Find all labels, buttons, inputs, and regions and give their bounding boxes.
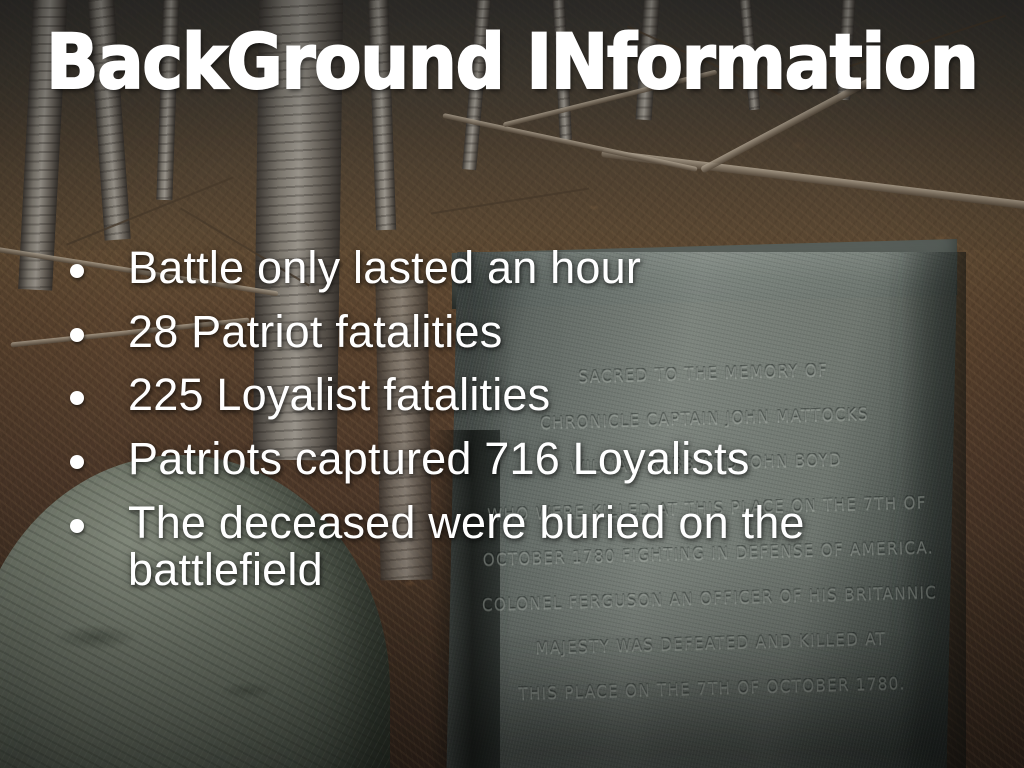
bullet-item: Patriots captured 716 Loyalists (58, 435, 958, 483)
bullet-item: 225 Loyalist fatalities (58, 371, 958, 419)
bullet-dot-icon (70, 328, 84, 342)
bullet-dot-icon (70, 391, 84, 405)
bullet-text: The deceased were buried on the battlefi… (128, 497, 805, 596)
bullet-text: 225 Loyalist fatalities (128, 369, 550, 420)
bullet-item: The deceased were buried on the battlefi… (58, 499, 958, 594)
bullet-text: Battle only lasted an hour (128, 242, 641, 293)
bullet-item: Battle only lasted an hour (58, 244, 958, 292)
slide-title: BackGround INformation (0, 24, 1024, 100)
bullet-item: 28 Patriot fatalities (58, 308, 958, 356)
presentation-slide: SACRED TO THE MEMORY OF CHRONICLE CAPTAI… (0, 0, 1024, 768)
bullet-text: Patriots captured 716 Loyalists (128, 433, 750, 484)
bullet-list: Battle only lasted an hour 28 Patriot fa… (58, 244, 958, 610)
bullet-dot-icon (70, 455, 84, 469)
bullet-dot-icon (70, 519, 84, 533)
bullet-text: 28 Patriot fatalities (128, 306, 502, 357)
bullet-dot-icon (70, 264, 84, 278)
